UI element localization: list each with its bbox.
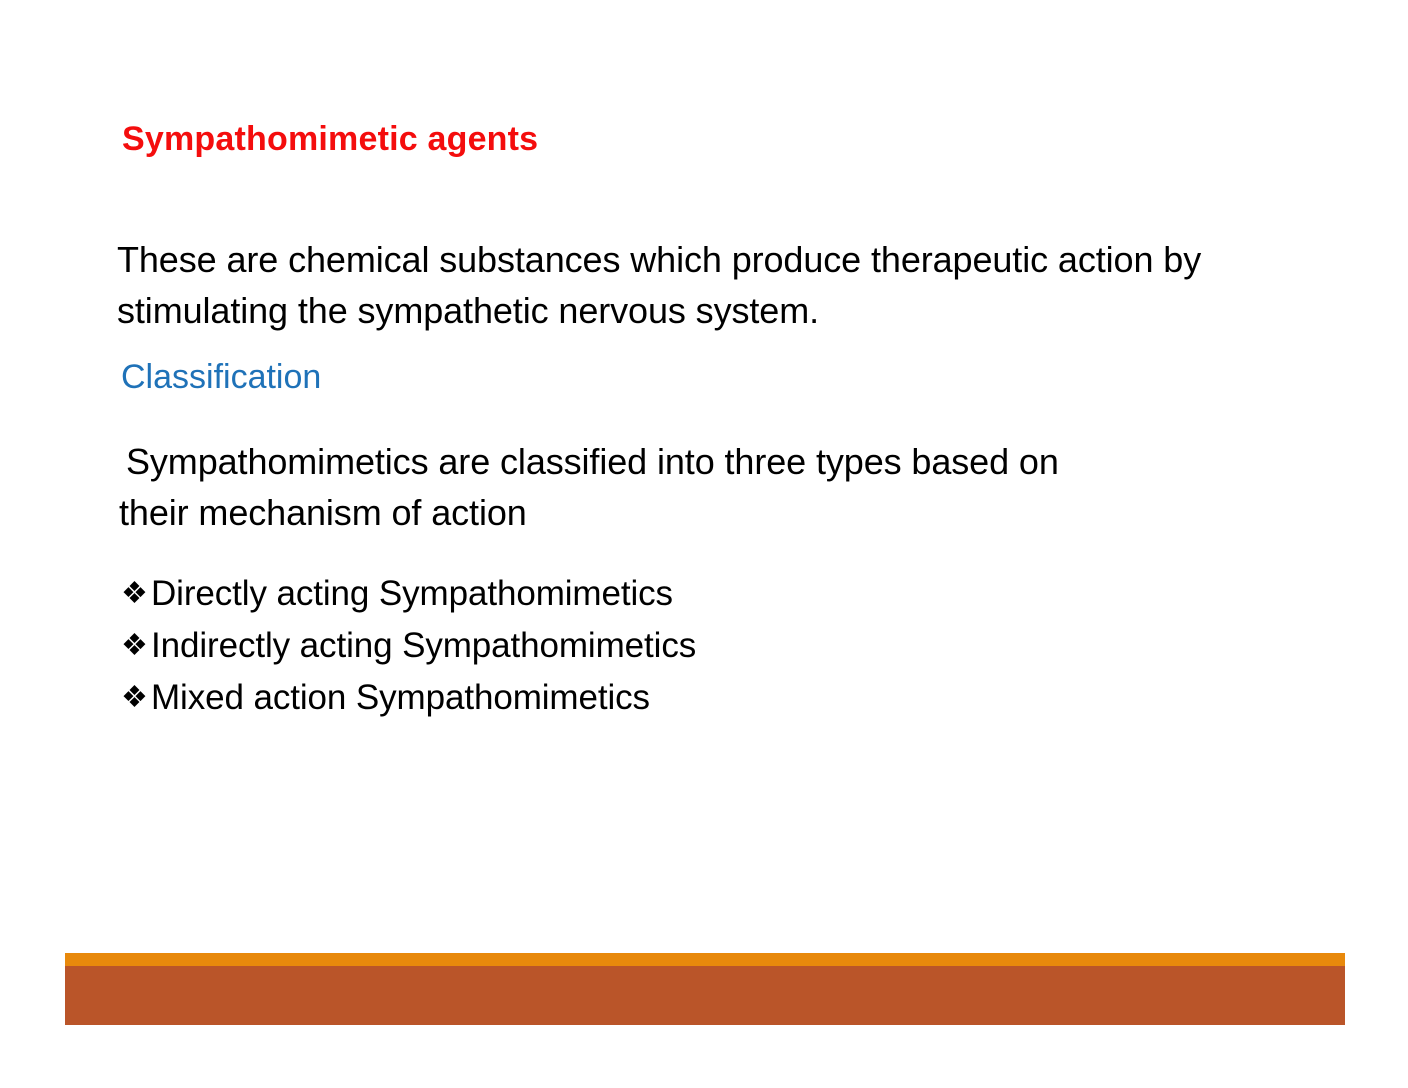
classification-heading: Classification — [121, 358, 321, 397]
footer-accent-strip — [65, 953, 1345, 966]
list-item: ❖ Indirectly acting Sympathomimetics — [121, 620, 696, 672]
intro-paragraph: These are chemical substances which prod… — [117, 234, 1242, 336]
slide-canvas: Sympathomimetic agents These are chemica… — [0, 0, 1408, 1088]
diamond-bullet-icon: ❖ — [121, 568, 151, 620]
footer-band — [65, 966, 1345, 1025]
list-item-label: Directly acting Sympathomimetics — [151, 568, 673, 620]
list-item-label: Indirectly acting Sympathomimetics — [151, 620, 696, 672]
slide-title: Sympathomimetic agents — [122, 120, 538, 159]
diamond-bullet-icon: ❖ — [121, 620, 151, 672]
list-item-label: Mixed action Sympathomimetics — [151, 672, 650, 724]
classification-paragraph-line-1: Sympathomimetics are classified into thr… — [126, 441, 1059, 482]
classification-paragraph: Sympathomimetics are classified into thr… — [126, 436, 1251, 538]
list-item: ❖ Directly acting Sympathomimetics — [121, 568, 696, 620]
list-item: ❖ Mixed action Sympathomimetics — [121, 672, 696, 724]
sympathomimetic-types-list: ❖ Directly acting Sympathomimetics ❖ Ind… — [121, 568, 696, 724]
diamond-bullet-icon: ❖ — [121, 672, 151, 724]
classification-paragraph-line-2: their mechanism of action — [119, 487, 1251, 538]
